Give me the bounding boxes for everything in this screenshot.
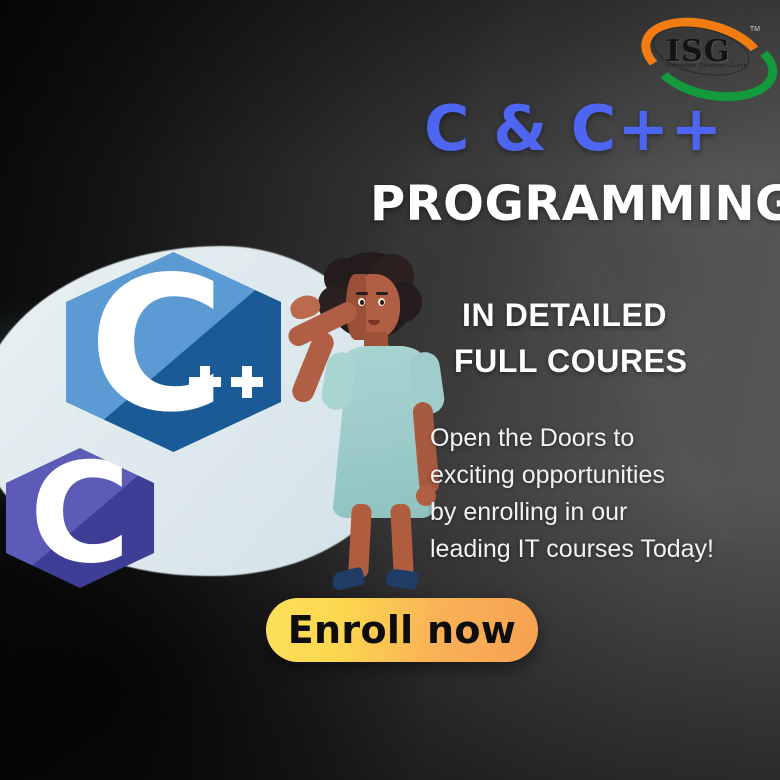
body-copy: Open the Doors to exciting opportunities… [430,420,714,568]
headline-secondary: PROGRAMMING [370,178,780,230]
tagline-line-2: FULL COURES [454,338,688,384]
plus-icon-second [231,366,263,398]
enroll-now-label: Enroll now [288,608,516,652]
promo-poster: C C [0,0,780,780]
eyebrow-left [356,292,368,295]
logo-tagline: Innovative Solutions Group [666,63,748,69]
enroll-now-button[interactable]: Enroll now [266,598,538,662]
eyebrow-right [376,292,388,295]
shoe-right [385,568,419,590]
leg-right [390,504,414,579]
cpp-logo-letter: C [82,270,232,432]
tagline-line-1: IN DETAILED [462,292,688,338]
plus-icon-first [189,366,221,398]
body-line-4: leading IT courses Today! [430,531,714,568]
cpp-logo-plus-plus-icon [189,366,267,400]
shoe-left [330,566,365,591]
body-line-1: Open the Doors to [430,420,714,457]
pupil-right [380,300,384,305]
body-line-2: exciting opportunities [430,457,714,494]
isg-logo[interactable]: ISG Innovative Solutions Group TM [638,18,762,84]
headline-primary: C & C++ [424,96,723,162]
course-tagline: IN DETAILED FULL COURES [462,292,688,384]
body-line-3: by enrolling in our [430,494,714,531]
pupil-left [360,300,364,305]
trademark-mark: TM [750,26,760,33]
c-logo-letter: C [18,458,142,578]
